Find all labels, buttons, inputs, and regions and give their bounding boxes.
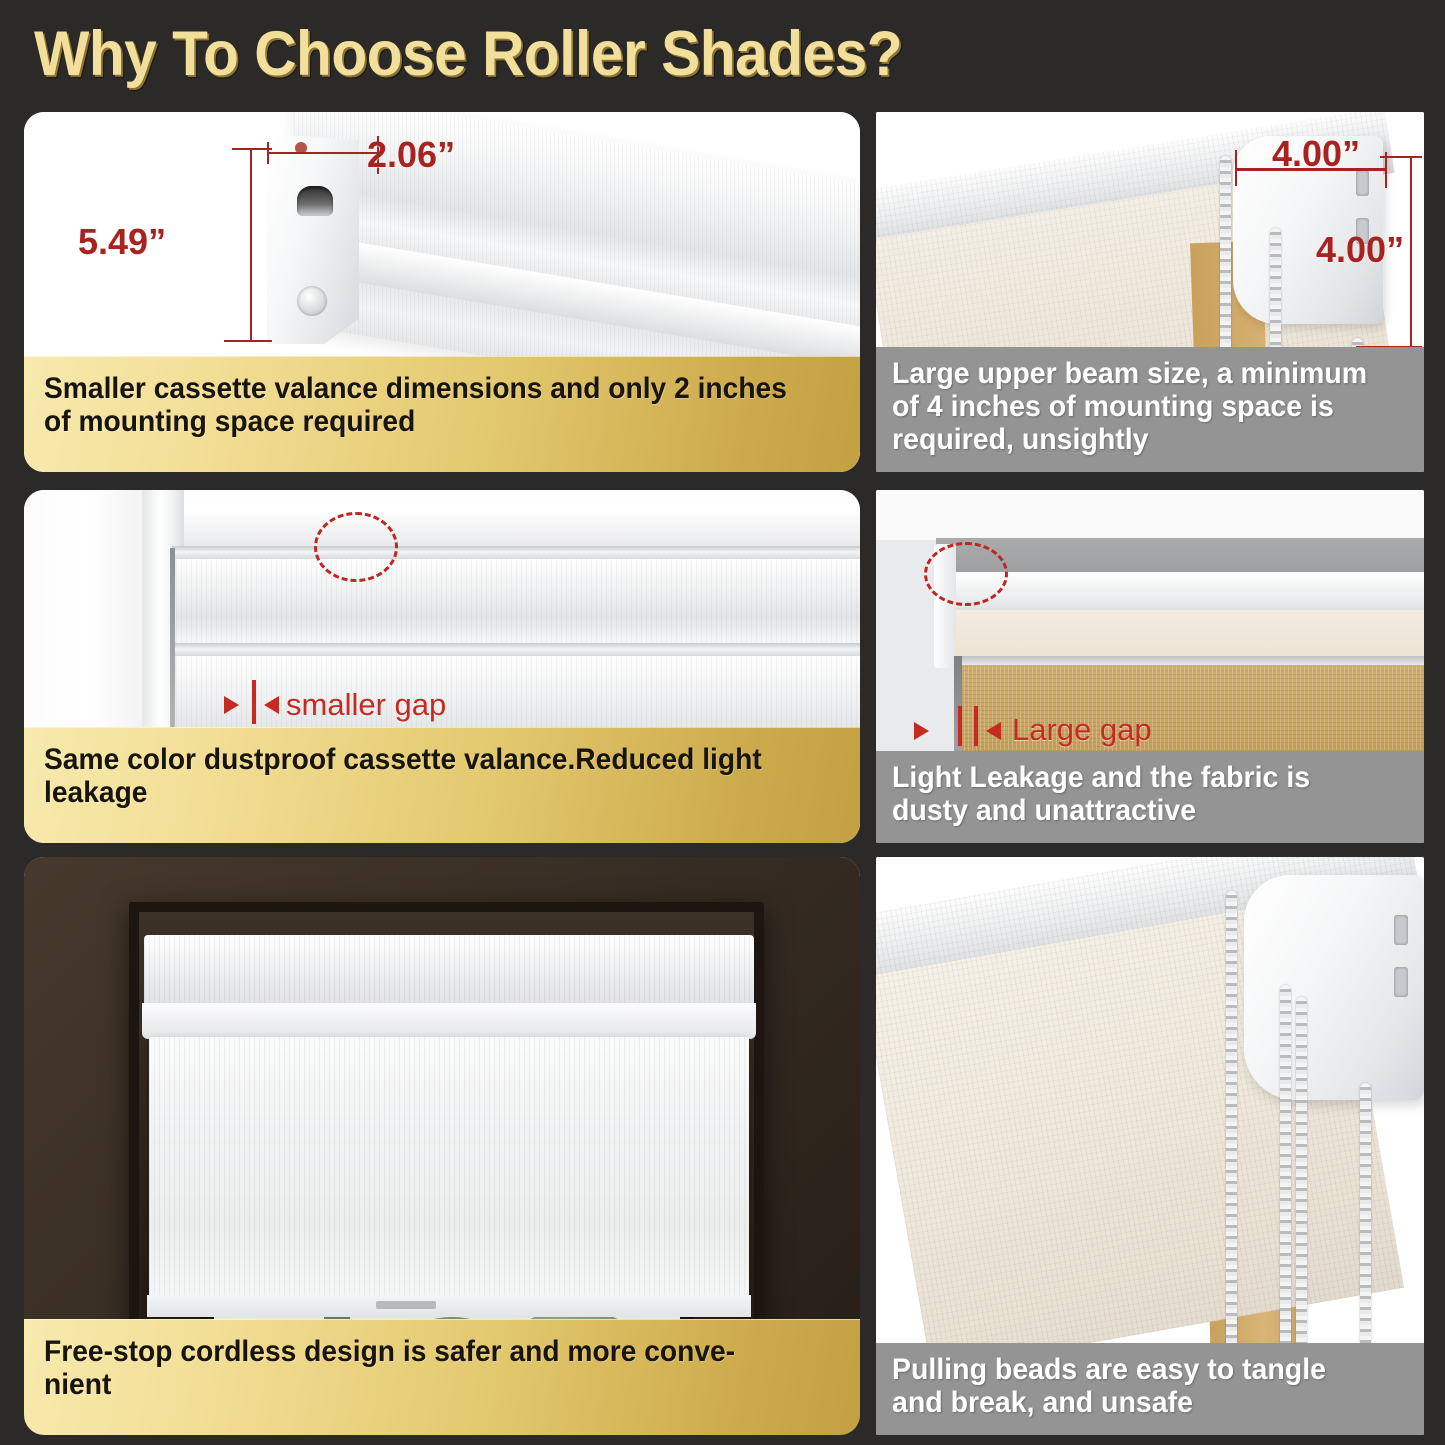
beam-end-cap-shape [1244,875,1424,1100]
caption-bar-con-1: Large upper beam size, a minimum of 4 in… [876,347,1424,472]
gap-marker-line-1 [958,706,962,746]
caption-bar-pro-2: Same color dustproof cassette valance.Re… [24,727,860,843]
gap-arrow-right-icon [264,696,279,714]
bottom-rail-shape [942,656,1424,665]
caption-bar-pro-1: Smaller cassette valance dimensions and … [24,356,860,472]
valance-rail-top [172,546,860,559]
gap-marker-line-2 [974,706,978,746]
width-dimension-label: 2.06” [367,137,455,173]
caption-bar-con-3: Pulling beads are easy to tangle and bre… [876,1343,1424,1435]
gap-arrow-left-icon [914,722,929,740]
beam-width-dimension-label: 4.00” [1272,136,1360,172]
panel-pro-smaller-gap: smaller gap Same color dustproof cassett… [24,490,860,843]
shade-hem-bar-shape [147,1295,751,1317]
panel-con-large-gap: Large gap Light Leakage and the fabric i… [876,490,1424,843]
gap-arrow-left-icon [224,696,239,714]
dim-line-width [267,152,379,154]
bead-chain-3 [1296,997,1307,1361]
caption-bar-con-2: Light Leakage and the fabric is dusty an… [876,751,1424,843]
caption-bar-pro-3: Free-stop cordless design is safer and m… [24,1319,860,1435]
cassette-valance-shape [144,935,754,1013]
height-dimension-label: 5.49” [78,224,166,260]
smaller-gap-label: smaller gap [286,687,446,723]
caption-text-pro-1: Smaller cassette valance dimensions and … [44,372,792,438]
beam-height-dimension-label: 4.00” [1316,232,1404,268]
gap-marker-line [252,680,256,724]
caption-text-con-1: Large upper beam size, a minimum of 4 in… [892,357,1382,456]
valance-rail-mid [172,643,860,656]
beam-dim-line-height [1410,156,1412,348]
comparison-grid: 2.06” 5.49” Smaller cassette valance dim… [0,0,1445,1445]
panel-con-pull-beads: Pulling beads are easy to tangle and bre… [876,857,1424,1435]
valance-lip-shape [142,1003,756,1039]
dim-line-top [232,148,272,150]
header-molding-shape [164,490,860,546]
cream-fabric-band [944,610,1424,658]
highlight-circle-icon [924,542,1008,606]
caption-text-con-3: Pulling beads are easy to tangle and bre… [892,1353,1382,1419]
shade-fabric-shape [149,1037,749,1309]
bead-chain-4 [1360,1083,1371,1361]
side-gap-shape [170,548,175,748]
dim-line-height [250,148,252,342]
panel-pro-valance-dimensions: 2.06” 5.49” Smaller cassette valance dim… [24,112,860,472]
valance-end-cap-shape [267,134,359,344]
panel-pro-cordless-design: Free-stop cordless design is safer and m… [24,857,860,1435]
bead-chain-2 [1280,985,1291,1361]
caption-text-pro-3: Free-stop cordless design is safer and m… [44,1335,792,1401]
panel-con-beam-dimensions: 4.00” 4.00” Large upper beam size, a min… [876,112,1424,472]
caption-text-con-2: Light Leakage and the fabric is dusty an… [892,761,1382,827]
beam-dim-line-top [1380,156,1422,158]
dim-line-bottom [224,340,272,342]
gap-arrow-right-icon [986,722,1001,740]
shade-band-upper [176,559,860,643]
highlight-circle-icon [314,512,398,582]
bead-chain-1 [1226,891,1237,1361]
large-gap-label: Large gap [1012,712,1152,748]
shade-brand-tag [376,1301,436,1309]
caption-text-pro-2: Same color dustproof cassette valance.Re… [44,743,792,809]
